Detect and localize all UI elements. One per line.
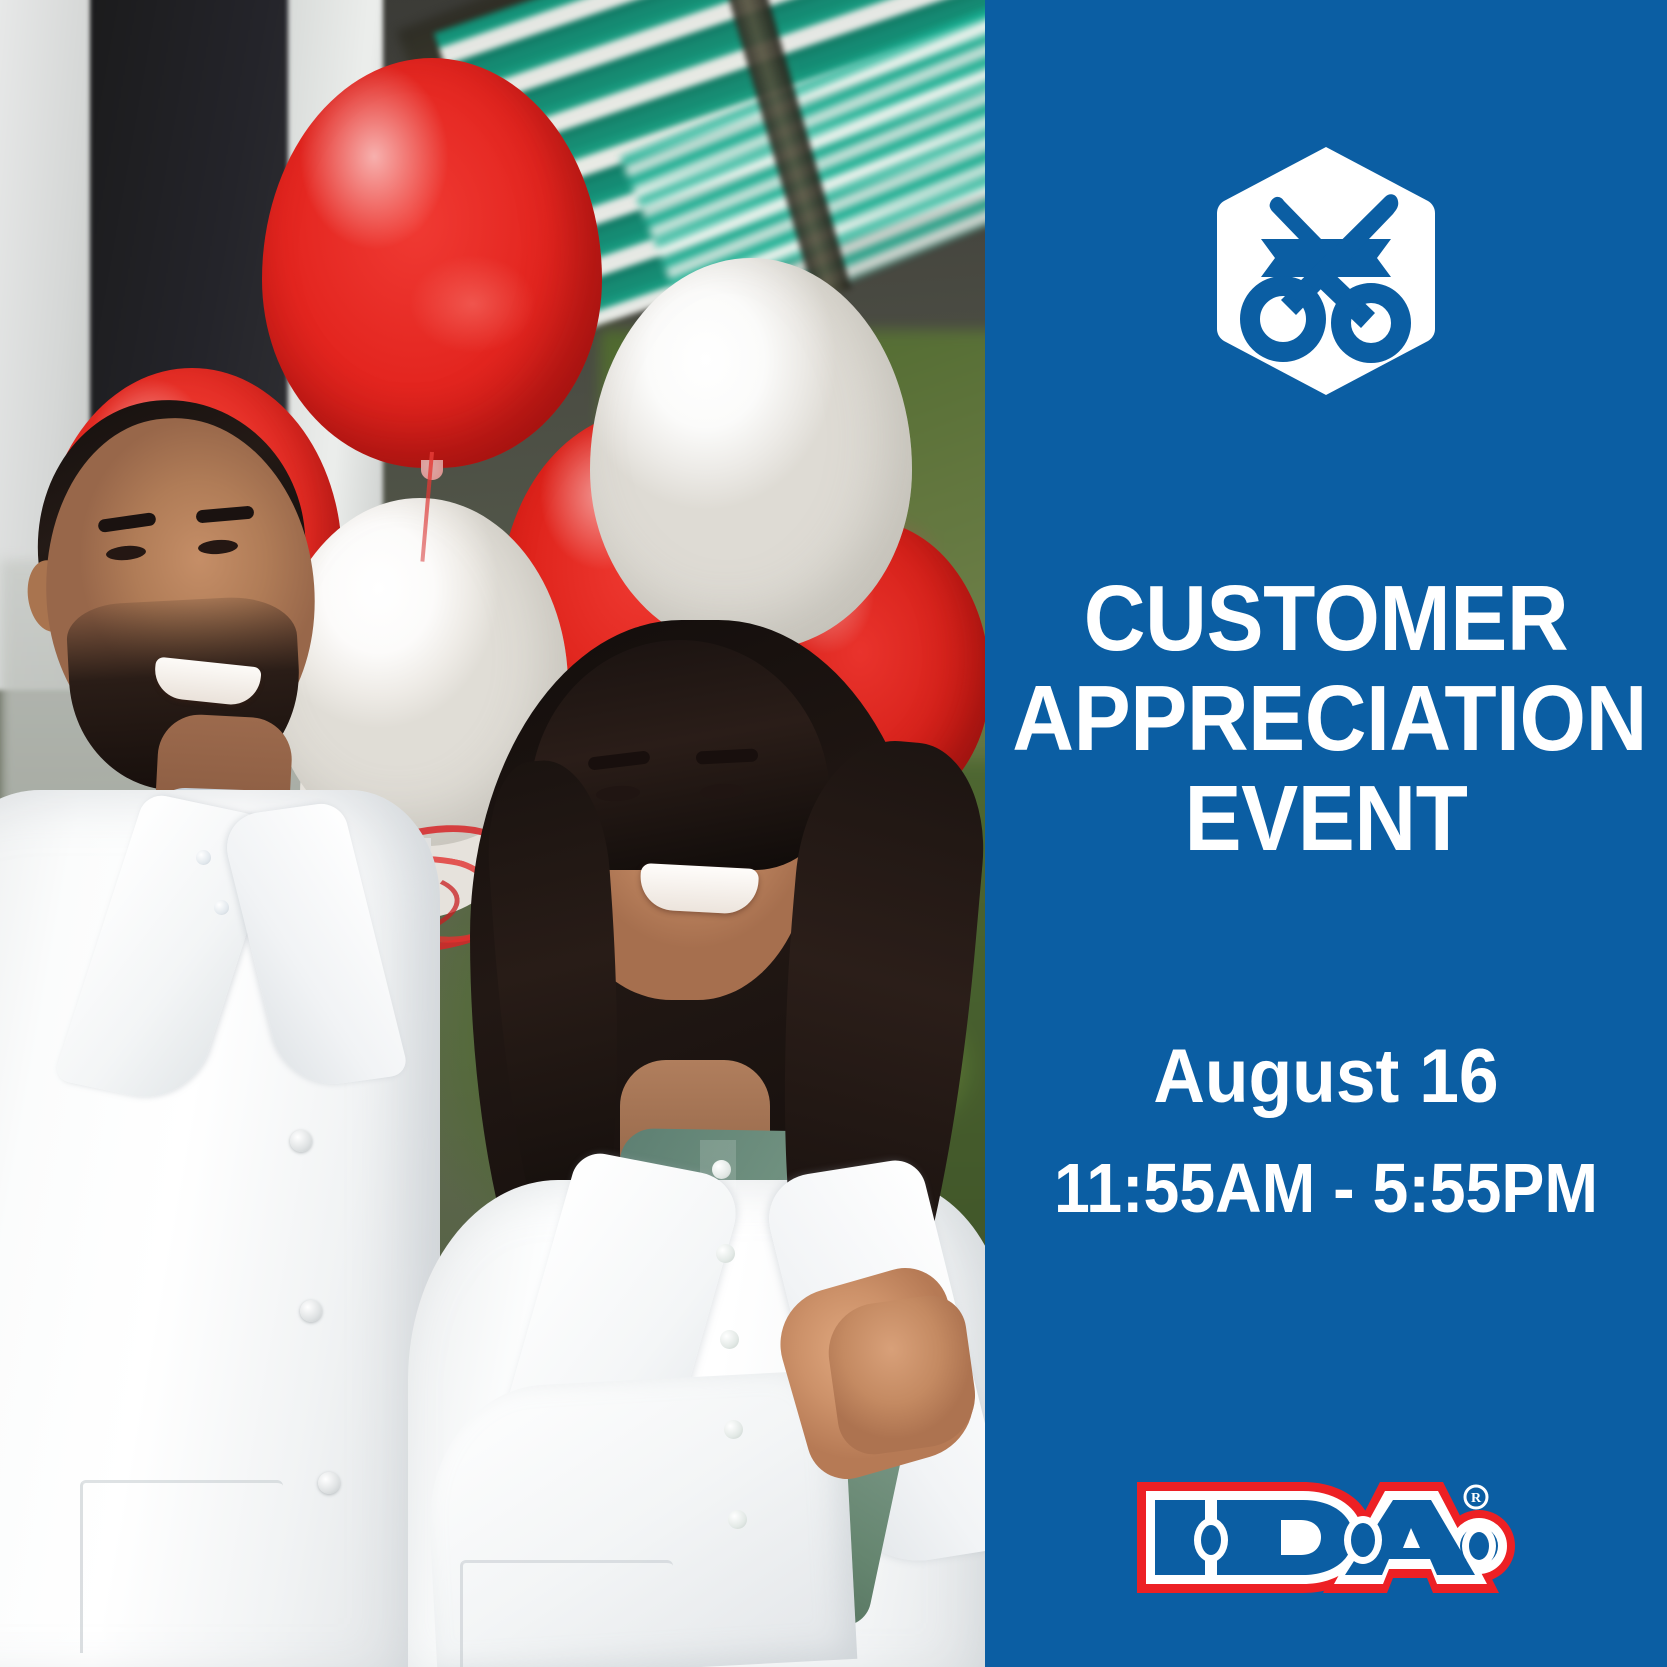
headline-line-2: APPRECIATION — [1012, 668, 1639, 768]
ribbon-cutting-scissors-hexagon-icon — [1215, 145, 1437, 397]
event-date: August 16 — [1005, 1034, 1646, 1120]
svg-text:R: R — [1471, 1491, 1482, 1506]
lab-coat-button — [300, 1300, 322, 1322]
registered-trademark-mark: R — [1465, 1486, 1487, 1508]
lab-coat-pocket — [80, 1480, 283, 1653]
blouse-button — [728, 1510, 747, 1529]
lab-coat-button — [318, 1472, 340, 1494]
blouse-button — [724, 1420, 743, 1439]
shirt-button — [196, 850, 211, 865]
event-time: 11:55AM - 5:55PM — [1012, 1148, 1639, 1228]
info-panel: CUSTOMER APPRECIATION EVENT August 16 11… — [985, 0, 1667, 1667]
lab-coat-button — [290, 1130, 312, 1152]
page-title: CUSTOMER APPRECIATION EVENT — [1012, 568, 1639, 868]
lab-coat-pocket — [460, 1560, 673, 1667]
blouse-button — [712, 1160, 731, 1179]
blouse-button — [716, 1244, 735, 1263]
blouse-button — [720, 1330, 739, 1349]
poster-canvas: CUSTOMER APPRECIATION EVENT August 16 11… — [0, 0, 1667, 1667]
headline-line-3: EVENT — [1012, 768, 1639, 868]
shirt-button — [214, 900, 229, 915]
ida-pharmacy-logo: R — [1131, 1470, 1521, 1605]
headline-line-1: CUSTOMER — [1012, 568, 1639, 668]
female-pharmacist-hand — [822, 1291, 982, 1459]
event-photo — [0, 0, 985, 1667]
